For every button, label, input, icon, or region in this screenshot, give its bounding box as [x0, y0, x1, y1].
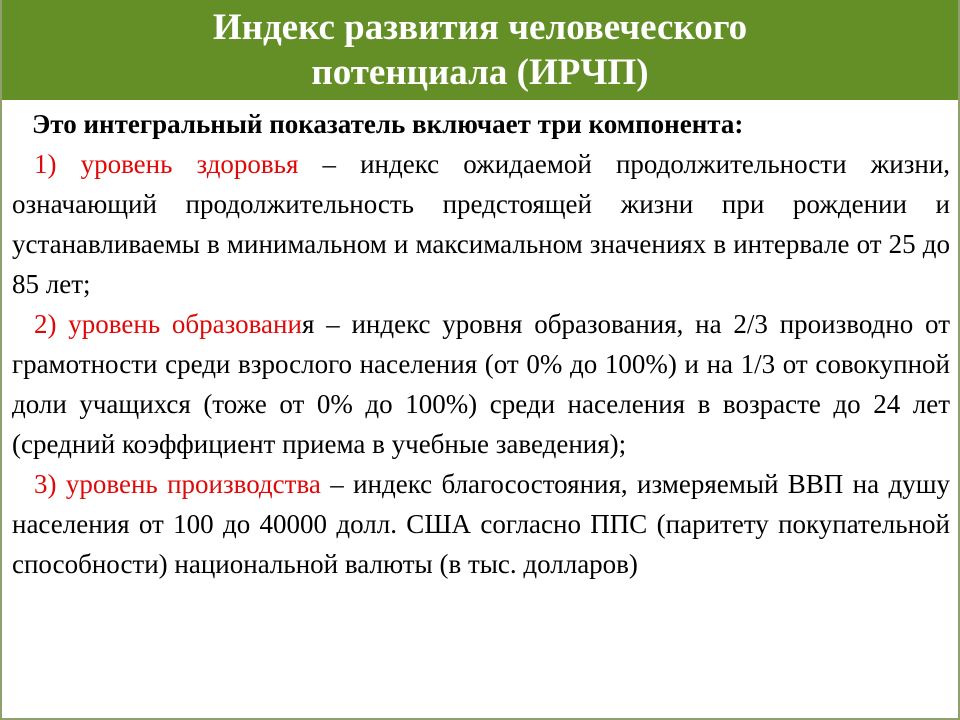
- slide-body: Это интегральный показатель включает три…: [12, 104, 950, 584]
- item-term: уровень образовани: [68, 309, 302, 339]
- item-marker: 2): [34, 309, 57, 339]
- item-term: уровень производства: [66, 469, 321, 499]
- item-term: уровень здоровья: [81, 149, 299, 179]
- page-title: Индекс развития человеческого потенциала…: [85, 5, 875, 95]
- item-marker: 3): [34, 469, 57, 499]
- slide: Индекс развития человеческого потенциала…: [0, 0, 960, 720]
- lead-paragraph: Это интегральный показатель включает три…: [12, 104, 950, 144]
- item-marker: 1): [34, 149, 57, 179]
- list-item: 2) уровень образования – индекс уровня о…: [12, 304, 950, 464]
- item-term-tail: я: [302, 309, 314, 339]
- list-item: 1) уровень здоровья – индекс ожидаемой п…: [12, 144, 950, 304]
- title-banner: Индекс развития человеческого потенциала…: [0, 0, 960, 100]
- list-item: 3) уровень производства – индекс благосо…: [12, 464, 950, 584]
